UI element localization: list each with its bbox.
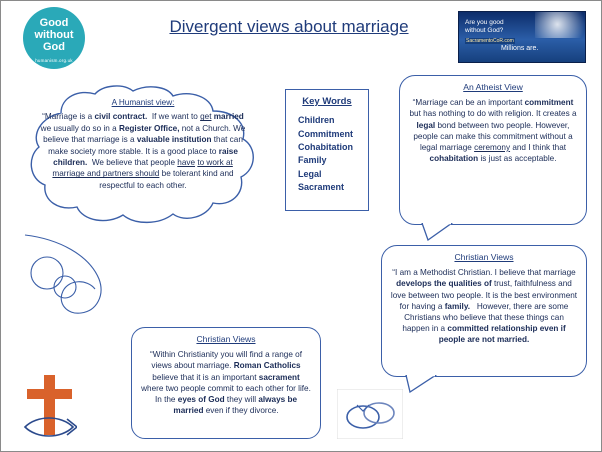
banner-line-1: Are you good without God? xyxy=(465,19,504,35)
logo-line-3: God xyxy=(23,41,85,53)
list-item: Commitment xyxy=(298,128,364,141)
christian-views-right-text: “I am a Methodist Christian. I believe t… xyxy=(390,267,578,345)
list-item: Sacrament xyxy=(298,181,364,194)
humanist-view-text: “Marriage is a civil contract. If we wan… xyxy=(39,111,247,191)
banner-text-1: Are you good xyxy=(465,19,504,26)
bubble-tail xyxy=(404,375,438,393)
list-item: Cohabitation xyxy=(298,141,364,154)
christian-views-bottom-text: “Within Christianity you will find a ran… xyxy=(140,349,312,416)
humanism-logo: Good without God humanism.org.uk xyxy=(23,7,85,69)
banner-small-text: SacramentoCoR.com xyxy=(465,38,515,44)
christian-views-bottom-bubble: Christian Views “Within Christianity you… xyxy=(131,327,321,439)
christian-views-right-bubble: Christian Views “I am a Methodist Christ… xyxy=(381,245,587,377)
atheist-campaign-banner: Are you good without God? SacramentoCoR.… xyxy=(458,11,586,63)
christian-views-right-heading: Christian Views xyxy=(390,252,578,263)
list-item: Family xyxy=(298,154,364,167)
humanist-view-bubble: A Humanist view: “Marriage is a civil co… xyxy=(25,83,261,231)
logo-line-2: without xyxy=(23,29,85,41)
wedding-rings-icon xyxy=(337,389,403,439)
page-title: Divergent views about marriage xyxy=(129,17,449,37)
logo-url: humanism.org.uk xyxy=(23,58,85,63)
worksheet-page: Divergent views about marriage Good with… xyxy=(0,0,602,452)
christian-views-bottom-heading: Christian Views xyxy=(140,334,312,345)
humanist-view-heading: A Humanist view: xyxy=(39,97,247,108)
humanist-view-content: A Humanist view: “Marriage is a civil co… xyxy=(39,97,247,219)
atheist-view-text: “Marriage can be an important commitment… xyxy=(408,97,578,164)
atheist-view-bubble: An Atheist View “Marriage can be an impo… xyxy=(399,75,587,225)
atheist-view-heading: An Atheist View xyxy=(408,82,578,93)
list-item: Legal xyxy=(298,168,364,181)
key-words-box: Key Words Children Commitment Cohabitati… xyxy=(285,89,369,211)
list-item: Children xyxy=(298,114,364,127)
key-words-list: Children Commitment Cohabitation Family … xyxy=(298,114,364,194)
bubble-tail xyxy=(420,223,454,241)
key-words-heading: Key Words xyxy=(290,96,364,107)
cloud-graphic xyxy=(535,11,586,38)
banner-line-3: Millions are. xyxy=(501,45,538,52)
logo-line-1: Good xyxy=(23,17,85,29)
banner-text-2: without God? xyxy=(465,27,503,34)
decorative-swirl xyxy=(19,229,129,319)
christian-cross-icon xyxy=(23,375,77,441)
